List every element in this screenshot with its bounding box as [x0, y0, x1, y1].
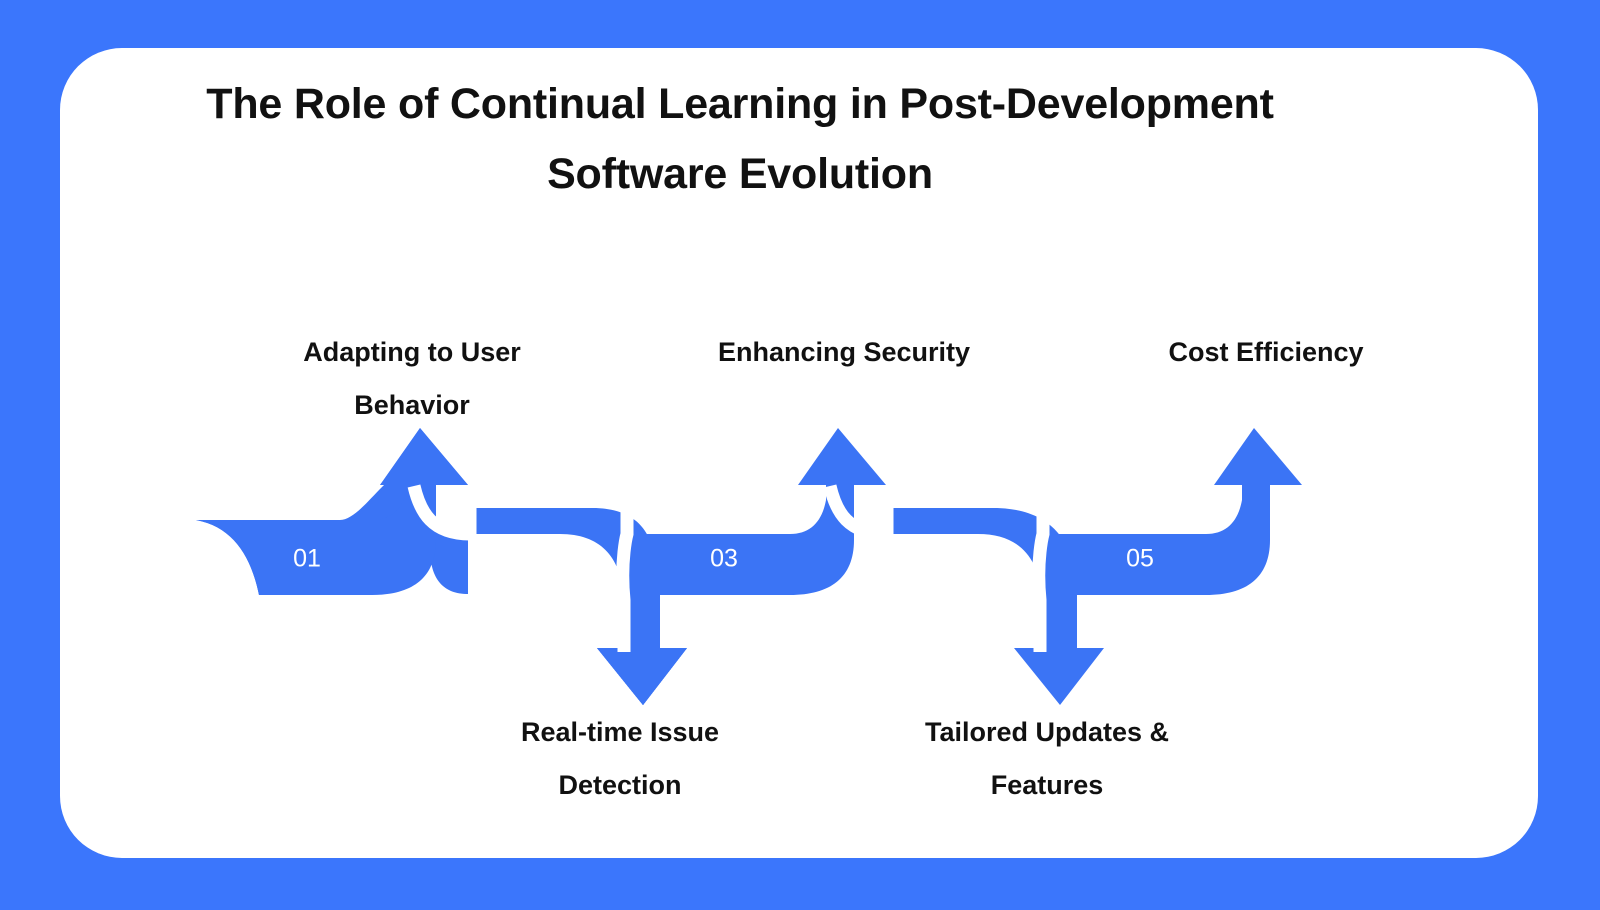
- step-label-04: Tailored Updates & Features: [888, 706, 1206, 813]
- infographic-root: The Role of Continual Learning in Post-D…: [0, 0, 1600, 910]
- step-label-05: Cost Efficiency: [1118, 326, 1414, 379]
- page-title: The Role of Continual Learning in Post-D…: [120, 70, 1360, 209]
- step-label-02: Real-time Issue Detection: [470, 706, 770, 813]
- step-label-01: Adapting to User Behavior: [262, 326, 562, 433]
- step-label-03: Enhancing Security: [692, 326, 996, 379]
